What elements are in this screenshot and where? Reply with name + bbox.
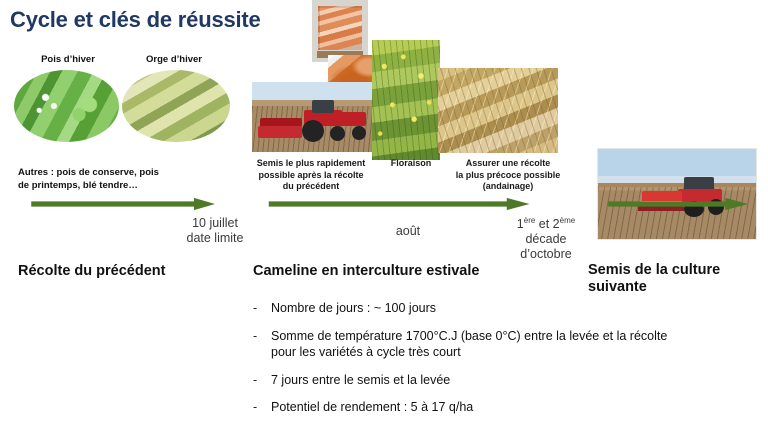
date-decade-line-2: décade (492, 232, 600, 247)
camelina-flowering-photo (372, 40, 440, 160)
bullet-marker: - (253, 399, 271, 416)
caption-harvest-line-2: la plus précoce possible (443, 170, 573, 182)
bullet-text: Somme de température 1700°C.J (base 0°C)… (271, 328, 683, 361)
section-heading-recolte-precedent: Récolte du précédent (18, 263, 165, 280)
caption-sowing-line-3: du précédent (245, 181, 377, 193)
tractor-sowing-photo (252, 82, 376, 152)
slide-canvas: Cycle et clés de réussite Pois d’hiver O… (0, 0, 768, 430)
seed-drill-photo (597, 148, 757, 240)
caption-sowing-line-2: possible après la récolte (245, 170, 377, 182)
list-item: - Somme de température 1700°C.J (base 0°… (253, 328, 683, 361)
date-decade-line-1: 1ère et 2ème (492, 213, 600, 232)
pallet-of-sacks-photo (312, 0, 368, 62)
dry-crop-field-photo (438, 68, 558, 153)
label-pois-dhiver: Pois d’hiver (22, 54, 114, 66)
bullet-marker: - (253, 328, 271, 361)
page-title: Cycle et clés de réussite (10, 7, 261, 33)
date-limite-label: date limite (150, 231, 280, 246)
others-note-line-2: de printemps, blé tendre… (18, 179, 233, 192)
bullet-text: 7 jours entre le semis et la levée (271, 372, 450, 389)
caption-floraison: Floraison (378, 158, 444, 170)
label-orge-dhiver: Orge d’hiver (128, 54, 220, 66)
list-item: - Potentiel de rendement : 5 à 17 q/ha (253, 399, 683, 416)
bullet-marker: - (253, 372, 271, 389)
timeline-arrow-previous-crop (18, 197, 230, 211)
list-item: - 7 jours entre le semis et la levée (253, 372, 683, 389)
bullet-text: Potentiel de rendement : 5 à 17 q/ha (271, 399, 473, 416)
caption-harvest-line-3: (andainage) (443, 181, 573, 193)
list-item: - Nombre de jours : ~ 100 jours (253, 300, 683, 317)
bullet-marker: - (253, 300, 271, 317)
others-note-line-1: Autres : pois de conserve, pois (18, 166, 233, 179)
section-heading-semis-suivant-line-1: Semis de la culture (588, 262, 768, 279)
cameline-bullet-list: - Nombre de jours : ~ 100 jours - Somme … (253, 300, 683, 427)
month-aout-label: août (358, 224, 458, 239)
bullet-text: Nombre de jours : ~ 100 jours (271, 300, 436, 317)
section-heading-semis-suivant-line-2: suivante (588, 279, 768, 296)
date-10-juillet: 10 juillet (150, 216, 280, 231)
timeline-arrow-camelina (250, 197, 550, 211)
caption-sowing-line-1: Semis le plus rapidement (245, 158, 377, 170)
winter-barley-photo (122, 70, 230, 142)
caption-harvest-line-1: Assurer une récolte (443, 158, 573, 170)
winter-pea-photo (14, 70, 119, 142)
date-decade-line-3: d’octobre (492, 247, 600, 262)
timeline-arrow-next-crop (598, 197, 760, 211)
section-heading-cameline: Cameline en interculture estivale (253, 263, 479, 280)
